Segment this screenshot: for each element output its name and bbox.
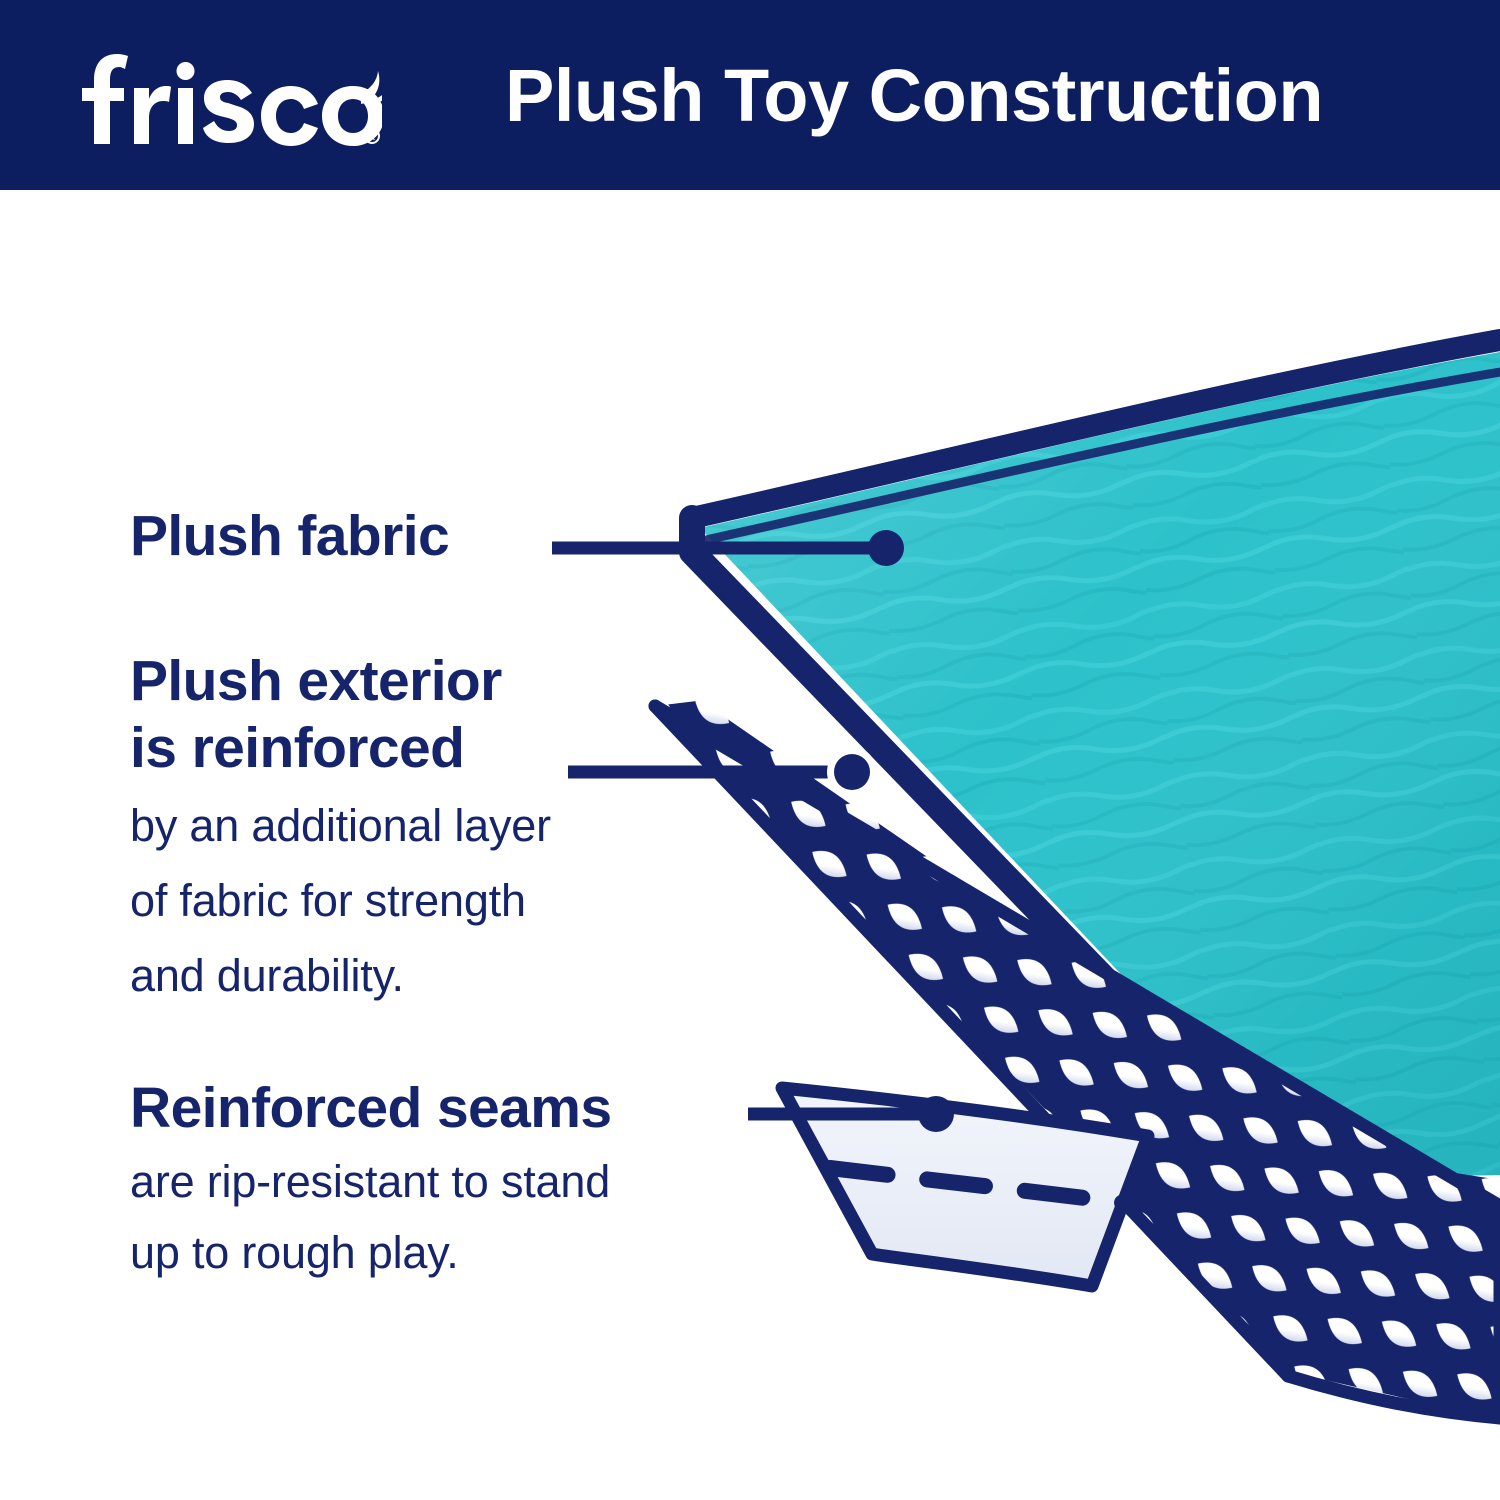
callout-dot-plush-exterior — [834, 754, 870, 790]
callout-body-line-3: and durability. — [130, 944, 551, 1007]
header-bar: R Plush Toy Construction — [0, 0, 1500, 190]
callout-plush-exterior: Plush exterior is reinforced by an addit… — [130, 648, 551, 1007]
frisco-logo: R — [72, 42, 382, 147]
callout-heading-plush-fabric: Plush fabric — [130, 503, 449, 570]
page-title: Plush Toy Construction — [505, 50, 1323, 142]
callout-body-line-2: of fabric for strength — [130, 869, 551, 932]
callout-body-seams-line-2: up to rough play. — [130, 1221, 611, 1284]
callout-heading-line-2: is reinforced — [130, 715, 551, 782]
callout-body-seams-line-1: are rip-resistant to stand — [130, 1150, 611, 1213]
callout-body-line-1: by an additional layer — [130, 794, 551, 857]
callout-reinforced-seams: Reinforced seams are rip-resistant to st… — [130, 1075, 611, 1284]
callout-dot-reinforced-seams — [918, 1096, 954, 1132]
callout-heading-line-1: Plush exterior — [130, 648, 551, 715]
callout-heading-reinforced-seams: Reinforced seams — [130, 1075, 611, 1142]
infographic-page: R Plush Toy Construction — [0, 0, 1500, 1500]
callout-plush-fabric: Plush fabric — [130, 503, 449, 570]
callout-dot-plush-fabric — [868, 530, 904, 566]
svg-text:R: R — [369, 132, 376, 143]
